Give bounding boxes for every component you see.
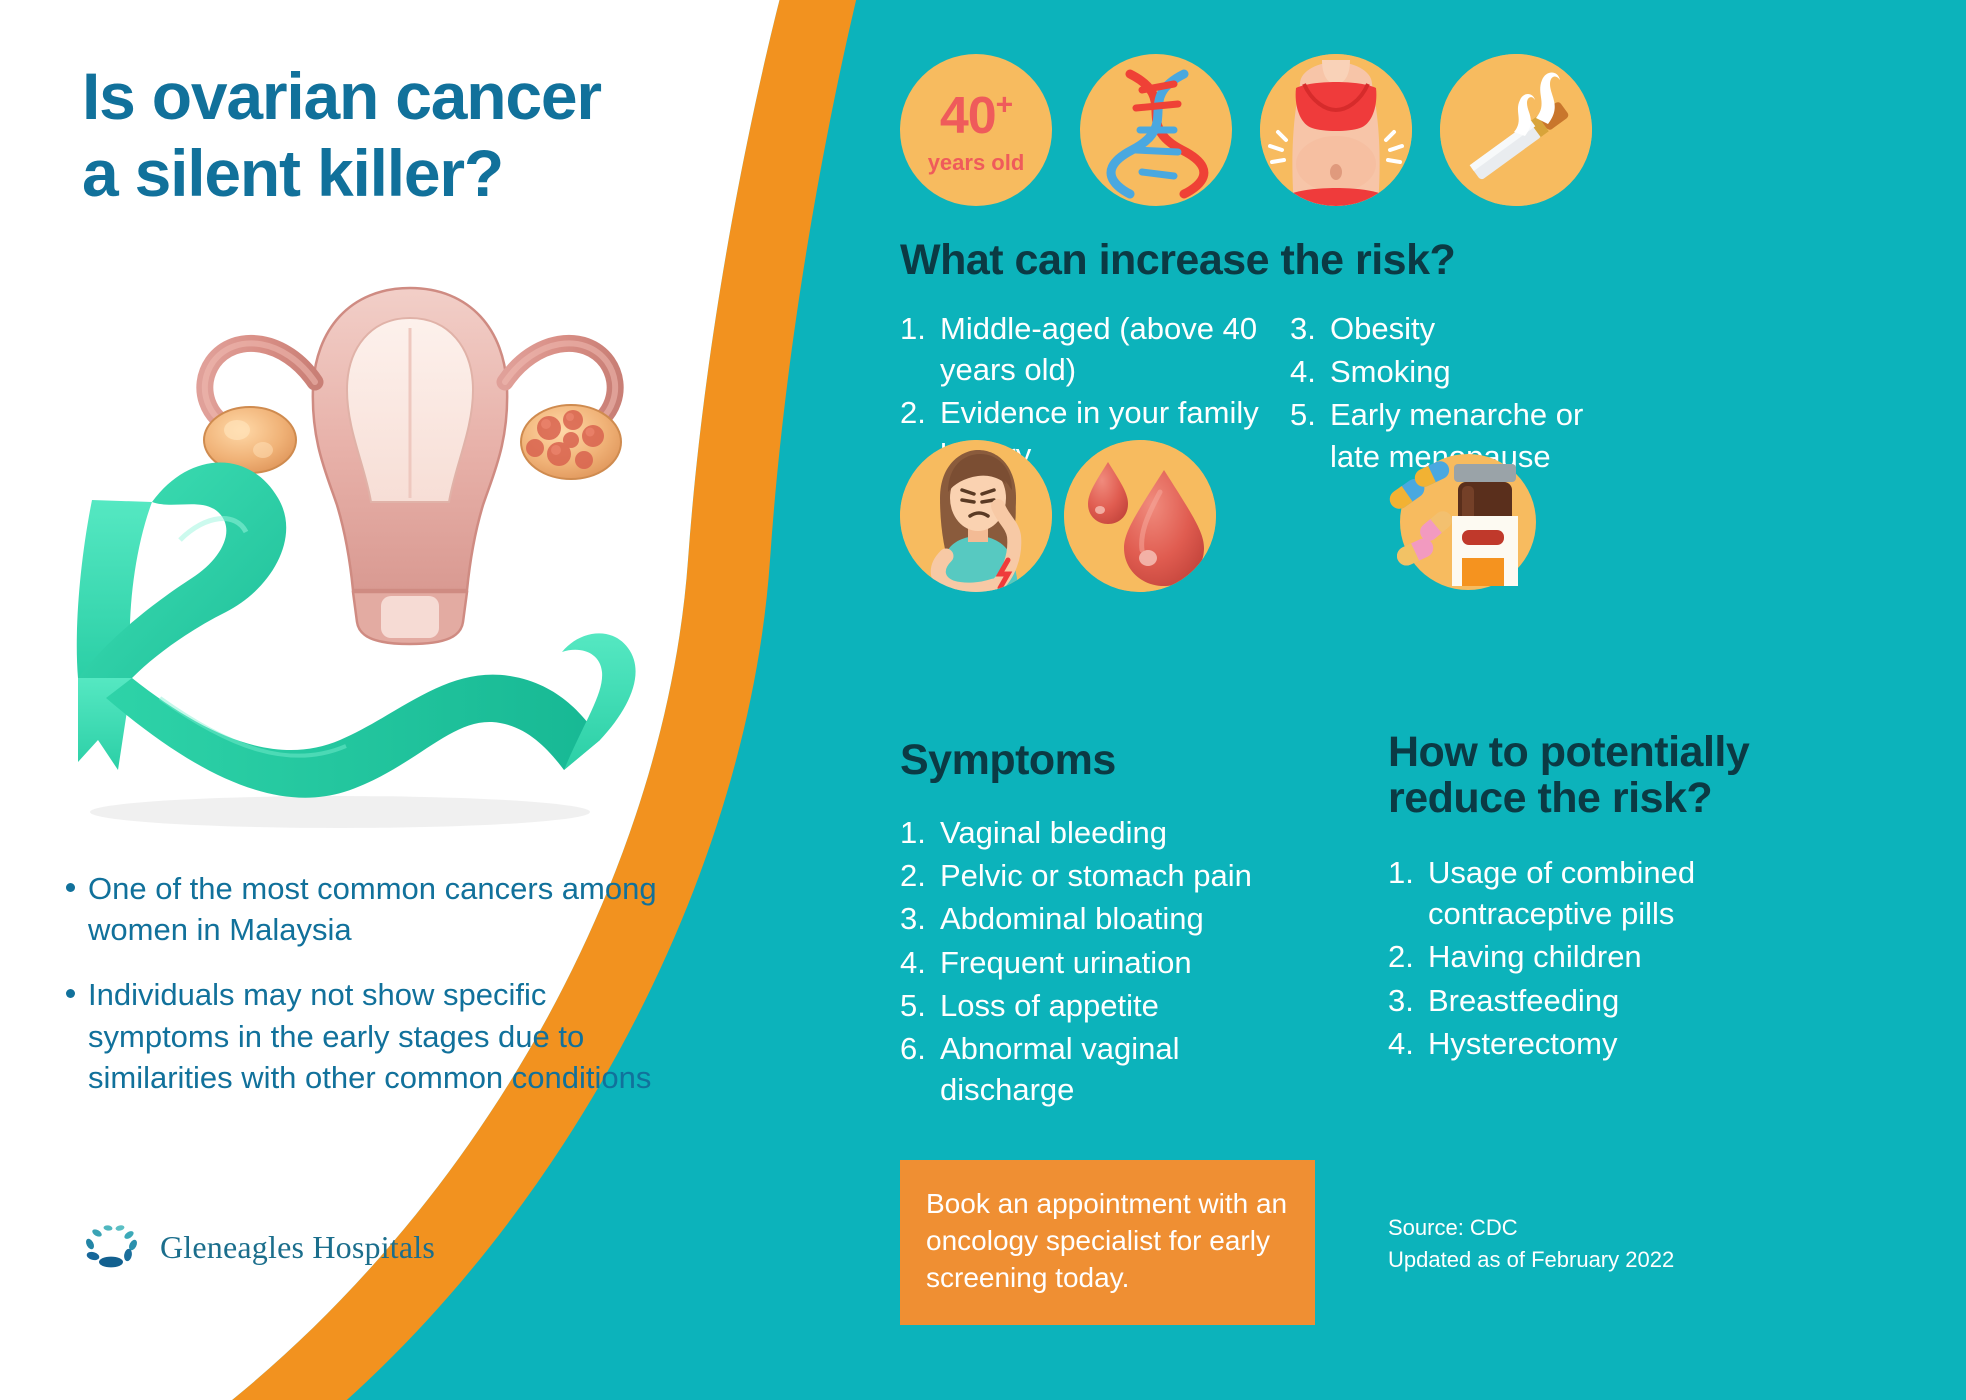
reduce-icon-row <box>1380 430 1550 600</box>
item-number: 2. <box>900 855 930 896</box>
age-40-plus-icon: 40+ years old <box>900 54 1052 206</box>
item-text: Hysterectomy <box>1428 1023 1788 1064</box>
reduce-list: 1. Usage of combined contraceptive pills… <box>1388 852 1788 1066</box>
infographic-poster: Is ovarian cancer a silent killer? <box>0 0 1966 1400</box>
risk-heading: What can increase the risk? <box>900 238 1455 284</box>
item-number: 3. <box>1388 980 1418 1021</box>
item-number: 4. <box>900 942 930 983</box>
woman-in-pain-icon <box>900 440 1052 592</box>
list-item: Individuals may not show specific sympto… <box>62 974 682 1098</box>
risk-icon-row: 40+ years old <box>900 54 1592 206</box>
item-text: Pelvic or stomach pain <box>940 855 1320 896</box>
item-number: 4. <box>1388 1023 1418 1064</box>
item-number: 1. <box>1388 852 1418 934</box>
medicine-bottle-pills-icon <box>1380 430 1550 600</box>
item-text: Obesity <box>1330 308 1640 349</box>
source-footer: Source: CDC Updated as of February 2022 <box>1388 1212 1674 1276</box>
item-text: Vaginal bleeding <box>940 812 1320 853</box>
reduce-heading-line2: reduce the risk? <box>1388 776 1788 822</box>
page-title-line1: Is ovarian cancer <box>82 58 782 135</box>
cigarette-smoking-icon <box>1440 54 1592 206</box>
symptoms-icon-row <box>900 440 1216 592</box>
list-item: 6. Abnormal vaginal discharge <box>900 1028 1320 1110</box>
list-item: 3. Obesity <box>1290 308 1640 349</box>
left-bullet-list: One of the most common cancers among wom… <box>62 868 682 1122</box>
item-number: 1. <box>900 812 930 853</box>
symptoms-list: 1. Vaginal bleeding 2. Pelvic or stomach… <box>900 812 1320 1113</box>
list-item: 1. Middle-aged (above 40 years old) <box>900 308 1300 390</box>
item-text: Usage of combined contraceptive pills <box>1428 852 1788 934</box>
dna-helix-icon <box>1080 54 1232 206</box>
age-number: 40+ <box>900 86 1052 146</box>
list-item: 5. Loss of appetite <box>900 985 1320 1026</box>
item-number: 5. <box>900 985 930 1026</box>
list-item: 1. Usage of combined contraceptive pills <box>1388 852 1788 934</box>
list-item: 4. Hysterectomy <box>1388 1023 1788 1064</box>
reduce-heading: How to potentially reduce the risk? <box>1388 730 1788 821</box>
item-number: 6. <box>900 1028 930 1110</box>
item-text: Abdominal bloating <box>940 898 1320 939</box>
blood-drop-icon <box>1064 440 1216 592</box>
item-text: Abnormal vaginal discharge <box>940 1028 1320 1110</box>
item-text: Breastfeeding <box>1428 980 1788 1021</box>
list-item: 4. Frequent urination <box>900 942 1320 983</box>
page-title-line2: a silent killer? <box>82 135 782 212</box>
list-item: 2. Pelvic or stomach pain <box>900 855 1320 896</box>
list-item: One of the most common cancers among wom… <box>62 868 682 950</box>
item-text: Having children <box>1428 936 1788 977</box>
item-text: Middle-aged (above 40 years old) <box>940 308 1300 390</box>
updated-text: Updated as of February 2022 <box>1388 1244 1674 1276</box>
item-text: Frequent urination <box>940 942 1320 983</box>
list-item: 3. Breastfeeding <box>1388 980 1788 1021</box>
symptoms-heading: Symptoms <box>900 738 1116 784</box>
list-item: 4. Smoking <box>1290 351 1640 392</box>
page-title: Is ovarian cancer a silent killer? <box>82 58 782 211</box>
gleneagles-logo-text: Gleneagles Hospitals <box>160 1229 435 1266</box>
source-text: Source: CDC <box>1388 1212 1674 1244</box>
age-caption: years old <box>900 150 1052 176</box>
item-number: 4. <box>1290 351 1320 392</box>
gleneagles-mark-icon <box>78 1222 144 1272</box>
obesity-body-icon <box>1260 54 1412 206</box>
item-number: 3. <box>900 898 930 939</box>
teal-awareness-ribbon <box>40 440 680 860</box>
item-number: 2. <box>1388 936 1418 977</box>
book-appointment-cta[interactable]: Book an appointment with an oncology spe… <box>900 1160 1315 1325</box>
item-text: Loss of appetite <box>940 985 1320 1026</box>
item-number: 3. <box>1290 308 1320 349</box>
list-item: 2. Having children <box>1388 936 1788 977</box>
right-panel: 40+ years old <box>900 0 1966 1400</box>
item-number: 5. <box>1290 394 1320 476</box>
gleneagles-logo[interactable]: Gleneagles Hospitals <box>78 1222 435 1272</box>
reduce-heading-line1: How to potentially <box>1388 730 1788 776</box>
left-panel: Is ovarian cancer a silent killer? <box>0 0 820 1400</box>
list-item: 3. Abdominal bloating <box>900 898 1320 939</box>
item-text: Smoking <box>1330 351 1640 392</box>
item-number: 1. <box>900 308 930 390</box>
list-item: 1. Vaginal bleeding <box>900 812 1320 853</box>
